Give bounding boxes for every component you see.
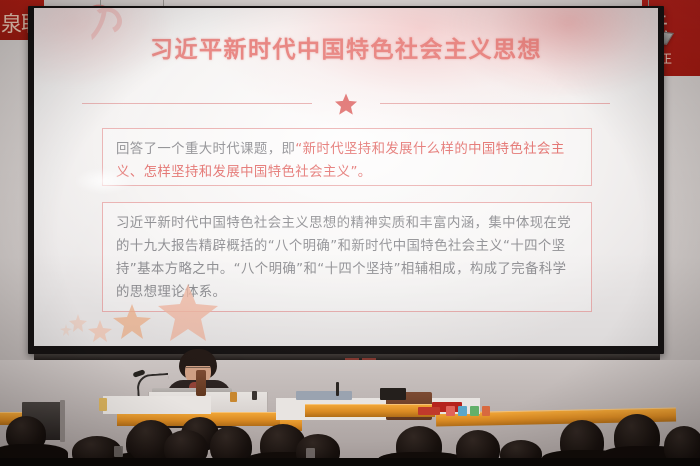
desk-object-cup — [470, 406, 479, 416]
divider-rule-left — [82, 103, 312, 104]
divider-rule-right — [380, 103, 610, 104]
desk-object-cup — [482, 406, 490, 416]
slide-divider — [34, 90, 658, 116]
slide-text-block-1-seg-0: 回答了一个重大时代课题，即 — [116, 142, 295, 157]
chair — [196, 370, 206, 396]
desk-object-red-marker — [418, 407, 440, 415]
front-row-cup — [114, 446, 123, 457]
five-pointed-star-icon — [334, 92, 358, 116]
desk-object-stylus — [336, 382, 339, 396]
desk-object-device — [380, 388, 406, 400]
slide-title: 习近平新时代中国特色社会主义思想 — [34, 30, 658, 64]
desk-left-panel — [103, 396, 211, 414]
desk-object-cup — [458, 406, 467, 416]
equipment-post — [60, 400, 65, 442]
presenter-fringe — [180, 354, 216, 366]
slide-text-block-1: 回答了一个重大时代课题，即“新时代坚持和发展什么样的中国特色社会主义、怎样坚持和… — [102, 128, 592, 186]
lecture-hall-photo: 泉职 无 方正 — [0, 0, 700, 466]
desk-object-pen — [252, 391, 257, 400]
desk-object-cup — [99, 398, 107, 411]
slide-decorative-stars — [60, 280, 250, 344]
projection-screen: 习近平新时代中国特色社会主义思想 回答了一个重大时代课题，即“新时代坚持和发展什… — [34, 8, 658, 346]
desk-center — [305, 404, 435, 417]
desk-object-bottle — [230, 392, 237, 402]
foreground-edge — [0, 458, 700, 466]
projection-screen-frame: 习近平新时代中国特色社会主义思想 回答了一个重大时代课题，即“新时代坚持和发展什… — [28, 6, 664, 354]
desk-object-tray — [296, 391, 352, 400]
presentation-slide: 习近平新时代中国特色社会主义思想 回答了一个重大时代课题，即“新时代坚持和发展什… — [34, 8, 658, 346]
desk-object-cup — [446, 406, 455, 416]
